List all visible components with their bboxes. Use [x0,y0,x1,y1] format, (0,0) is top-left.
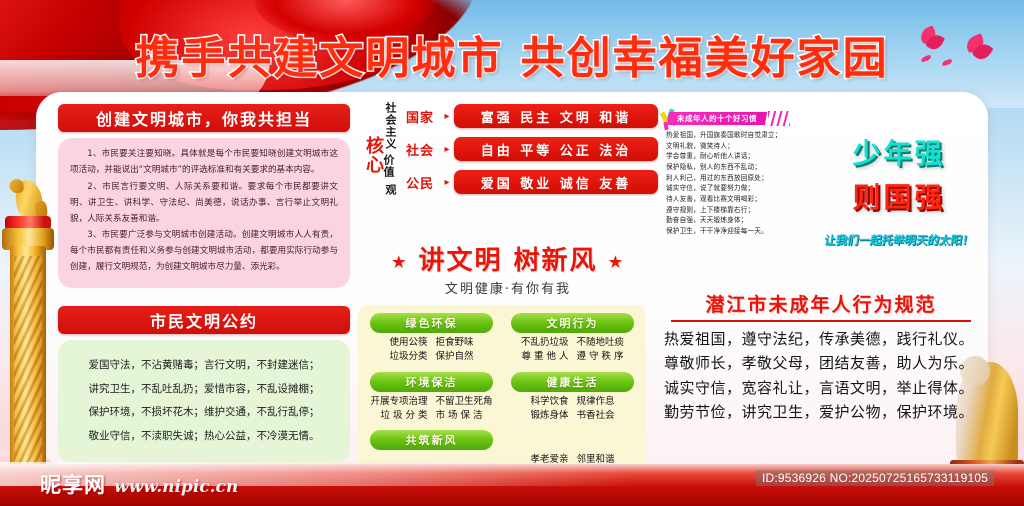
core-values-row-value: 富强 民主 文明 和谐 [454,104,658,128]
core-values-row: 社会 ▸ 自由 平等 公正 法治 [406,137,658,161]
green-pill-healthy-life: 健康生活 [511,372,634,392]
core-values-block: 社会主义 核心 价值 观 国家 ▸ 富强 民主 文明 和谐 社会 ▸ 自由 平等… [358,100,658,238]
right-column: 未成年人的十个好习惯 热爱祖国，升国旗奏国歌时自觉肃立； 文明礼貌，微笑待人； … [662,106,980,424]
youth-strong-line1: 少年强 [818,132,980,172]
habit-item: 学会尊重，耐心听他人讲话； [666,151,816,162]
convention-line: 保护环境，不损坏花木；维护交通，不乱行乱停； [68,401,340,425]
core-values-vertical-d: 观 [382,184,398,196]
slogan-sub: 文明健康·有你有我 [358,278,658,297]
rules-line: 诚实守信，宽容礼让，言语文明，举止得体。 [664,376,980,400]
panel1-paragraph: 1、市民要关注要知晓。具体就是每个市民要知晓创建文明城市这项活动，并能说出“文明… [70,147,338,179]
core-values-row: 公民 ▸ 爱国 敬业 诚信 友善 [406,170,658,194]
rules-line: 热爱祖国，遵守法纪，传承美德，践行礼仪。 [664,327,980,351]
star-icon: ★ [609,253,624,271]
env-clean-item: 垃 圾 分 类 [380,409,427,423]
panel-create-civilized-city: 1、市民要关注要知晓。具体就是每个市民要知晓创建文明城市这项活动，并能说出“文明… [58,138,350,288]
core-values-row-label: 国家 [406,107,440,126]
butterfly-icon [920,28,948,50]
rules-divider [671,320,971,322]
env-clean-text: 开展专项治理不留卫生死角 垃 圾 分 类市 场 保 洁 [364,395,499,424]
env-clean-item: 市 场 保 洁 [436,409,483,423]
eco-text: 使用公筷拒食野味 垃圾分类保护自然 [364,336,499,365]
core-values-row-value: 爱国 敬业 诚信 友善 [454,170,658,194]
stone-beast-icon [14,179,44,220]
convention-line: 爱国守法，不沾黄赌毒；言行文明，不封建迷信； [68,354,340,378]
pillar-shaft [10,246,46,476]
behavior-item: 不随地吐痰 [577,336,625,350]
heading-create-civilized-city: 创建文明城市，你我共担当 [58,104,350,132]
behavior-item: 尊 重 他 人 [521,350,568,364]
core-values-row-label: 公民 [406,173,440,192]
behavior-item: 不乱扔垃圾 [521,336,569,350]
env-clean-item: 不留卫生死角 [436,395,493,409]
health-item: 规律作息 [577,395,615,409]
image-id-text: ID:9536926 NO:20250725165733119105 [756,470,994,486]
green-pill-new-trend: 共筑新风 [370,430,493,450]
rules-line: 尊敬师长，孝敬父母，团结友善，助人为乐。 [664,351,980,375]
propaganda-board: 携手共建文明城市 共创幸福美好家园 创建文明城市，你我共担当 1、市民要关注要知… [0,0,1024,506]
slogan-main-text: 讲文明 树新风 [418,246,597,276]
arrow-right-icon: ▸ [440,177,454,188]
green-pill-eco: 绿色环保 [370,313,493,333]
health-item: 科学饮食 [530,395,568,409]
youth-strong-line2: 则国强 [818,176,980,216]
habit-item: 遵守规则，上下楼梯靠右行； [666,205,816,216]
health-item: 锻炼身体 [530,409,568,423]
habit-item: 勤奋自强，天天锻炼身体； [666,215,816,226]
page-title-text: 携手共建文明城市 共创幸福美好家园 [135,22,888,86]
civilized-behavior-text: 不乱扔垃圾不随地吐痰 尊 重 他 人遵 守 秩 序 [505,336,640,365]
healthy-life-text: 科学饮食规律作息 锻炼身体书香社会 [505,395,640,424]
rules-title: 潜江市未成年人行为规范 [662,290,980,317]
habits-and-banner: 未成年人的十个好习惯 热爱祖国，升国旗奏国歌时自觉肃立； 文明礼貌，微笑待人； … [662,106,980,288]
arrow-right-icon: ▸ [440,111,454,122]
butterfly-icon [921,56,933,63]
eco-item: 使用公筷 [389,336,427,350]
youth-strong-line3: 让我们一起托举明天的太阳！ [817,232,981,248]
habit-item: 文明礼貌，微笑待人； [666,141,816,152]
habits-tag: 未成年人的十个好习惯 [667,112,767,125]
habit-item: 热爱祖国，升国旗奏国歌时自觉肃立； [666,130,816,141]
left-column: 创建文明城市，你我共担当 1、市民要关注要知晓。具体就是每个市民要知晓创建文明城… [58,104,350,463]
page-title: 携手共建文明城市 共创幸福美好家园 [0,22,1024,84]
habits-list: 热爱祖国，升国旗奏国歌时自觉肃立； 文明礼貌，微笑待人； 学会尊重，耐心听他人讲… [666,130,816,237]
watermark-url: www.nipic.cn [114,477,238,497]
habits-tag-label: 未成年人的十个好习惯 [677,113,757,124]
core-values-row: 国家 ▸ 富强 民主 文明 和谐 [406,104,658,128]
middle-column: 社会主义 核心 价值 观 国家 ▸ 富强 民主 文明 和谐 社会 ▸ 自由 平等… [358,100,658,497]
habit-item: 保护卫生，干干净净迎接每一天。 [666,226,816,237]
core-values-row-value: 自由 平等 公正 法治 [454,137,658,161]
habit-item: 诚实守信，说了就要努力做； [666,183,816,194]
green-pill-civilized-behavior: 文明行为 [511,313,634,333]
eco-item: 垃圾分类 [389,350,427,364]
core-values-row-label: 社会 [406,140,440,159]
butterfly-icon [966,36,996,60]
health-item: 书香社会 [577,409,615,423]
heading-citizen-convention: 市民文明公约 [58,306,350,334]
slogan-main: ★ 讲文明 树新风 ★ [358,240,658,277]
convention-line: 讲究卫生，不乱吐乱扔；爱惜市容，不乱设摊棚； [68,378,340,402]
green-pill-env-clean: 环境保洁 [370,372,493,392]
butterfly-icon [942,60,954,67]
habit-item: 利人利己，用过的东西放回原处； [666,173,816,184]
core-values-vertical-c: 价值 [380,154,396,178]
behavior-item: 遵 守 秩 序 [577,350,624,364]
watermark: 昵享网 www.nipic.cn [40,469,238,499]
panel1-paragraph: 3、市民要广泛参与文明城市创建活动。创建文明城市人人有责，每个市民都有责任和义务… [70,228,338,276]
star-icon: ★ [392,253,407,271]
rules-lines: 热爱祖国，遵守法纪，传承美德，践行礼仪。 尊敬师长，孝敬父母，团结友善，助人为乐… [662,327,980,424]
env-clean-item: 开展专项治理 [370,395,427,409]
youth-strong-banner: 少年强 则国强 让我们一起托举明天的太阳！ [818,132,980,248]
tag-stripes-icon [768,111,790,126]
arrow-right-icon: ▸ [440,144,454,155]
watermark-brand: 昵享网 [40,469,106,499]
habit-item: 保护隐私，别人的东西不乱动； [666,162,816,173]
panel1-paragraph: 2、市民言行要文明、人际关系要和谐。要求每个市民都要讲文明、讲卫生、讲科学、守法… [70,180,338,228]
eco-item: 保护自然 [436,350,474,364]
convention-line: 敬业守信，不渎职失诚；热心公益，不冷漠无情。 [68,425,340,449]
rules-line: 勤劳节俭，讲究卫生，爱护公物，保护环境。 [664,400,980,424]
panel-citizen-convention: 爱国守法，不沾黄赌毒；言行文明，不封建迷信； 讲究卫生，不乱吐乱扔；爱惜市容，不… [58,340,350,463]
habit-item: 待人友善，观看比赛文明喝彩； [666,194,816,205]
eco-item: 拒食野味 [436,336,474,350]
core-values-rows: 国家 ▸ 富强 民主 文明 和谐 社会 ▸ 自由 平等 公正 法治 公民 ▸ 爱… [406,104,658,203]
core-values-vertical-title: 社会主义 核心 价值 观 [358,102,404,236]
huabiao-pillar-left [2,176,62,476]
